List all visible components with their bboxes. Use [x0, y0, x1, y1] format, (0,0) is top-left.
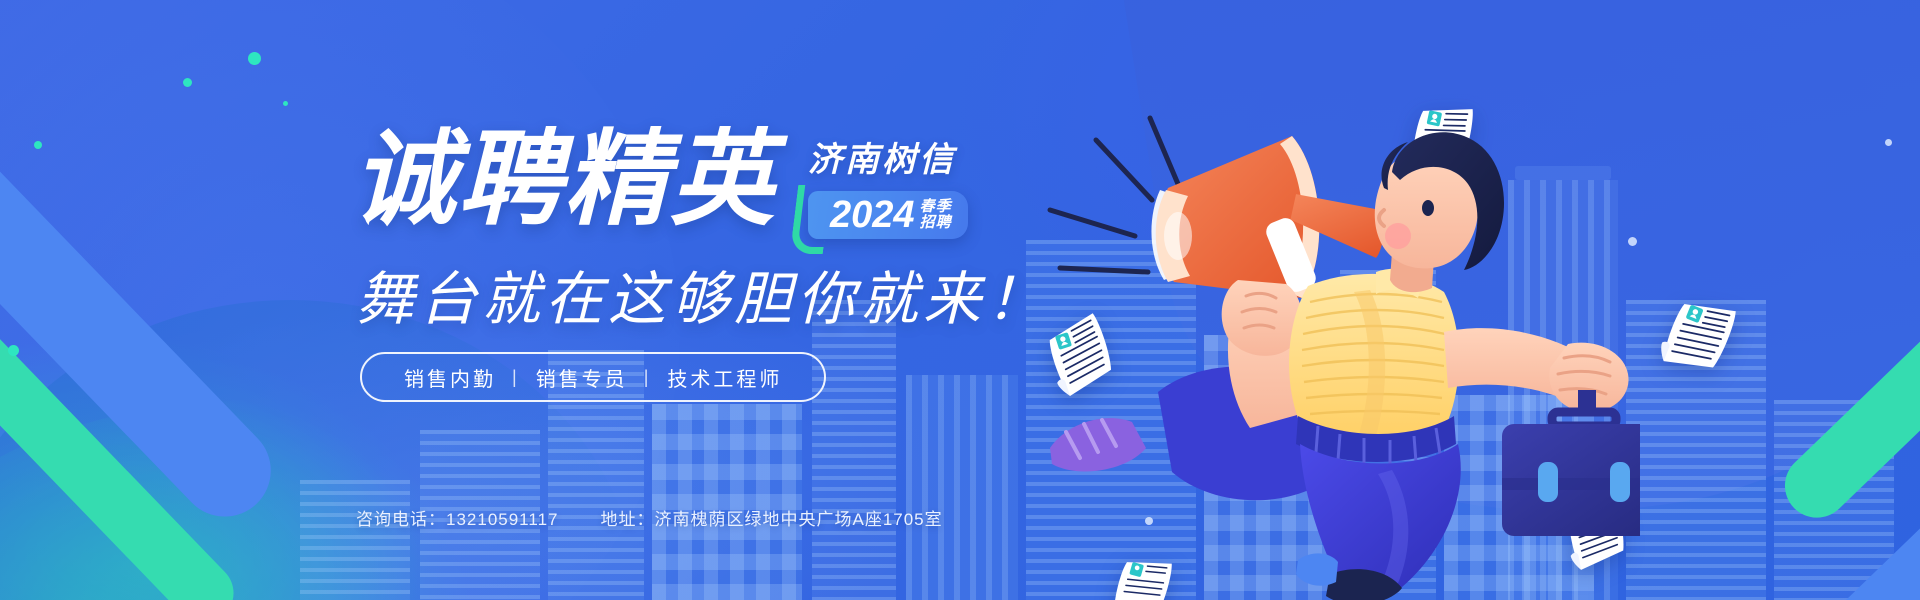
decor-dot-white: [1885, 139, 1892, 146]
contact-address-label: 地址：: [600, 510, 654, 529]
season-badge: 2024 春季 招聘: [808, 191, 968, 239]
job-role-item[interactable]: 销售内勤: [388, 363, 512, 392]
role-separator: |: [512, 367, 520, 388]
recruitment-banner: 诚聘精英 济南树信 2024 春季 招聘 舞台就在这够胆你就来！ 销售内勤 | …: [0, 0, 1920, 600]
brand-name: 济南树信: [808, 132, 968, 181]
text-content: 诚聘精英 济南树信 2024 春季 招聘 舞台就在这够胆你就来！ 销售内勤 | …: [0, 0, 1100, 600]
job-roles-pill[interactable]: 销售内勤 | 销售专员 | 技术工程师: [360, 352, 826, 402]
badge-season-line-2: 招聘: [920, 215, 952, 231]
brand-badge-group: 济南树信 2024 春季 招聘: [808, 128, 968, 239]
resume-paper-icon: [1660, 292, 1744, 380]
briefcase-icon: [1502, 390, 1640, 536]
shirt: [1289, 274, 1459, 447]
contact-phone-label: 咨询电话：: [356, 510, 446, 529]
job-role-item[interactable]: 销售专员: [520, 363, 644, 392]
sock: [1296, 553, 1338, 585]
badge-season-line-1: 春季: [920, 199, 952, 215]
badge-season: 春季 招聘: [920, 199, 952, 231]
headline-row: 诚聘精英 济南树信 2024 春季 招聘: [352, 128, 968, 239]
megaphone-icon: [1151, 136, 1387, 298]
badge-hook-icon: [790, 185, 831, 254]
businessman-illustration: [1040, 40, 1640, 600]
contact-address: 地址：济南槐荫区绿地中央广场A座1705室: [600, 505, 942, 530]
role-separator: |: [644, 367, 652, 388]
page-title: 诚聘精英: [352, 128, 776, 232]
badge-year: 2024: [830, 196, 915, 234]
job-role-item[interactable]: 技术工程师: [651, 363, 798, 392]
contact-phone: 咨询电话：13210591117: [356, 505, 558, 530]
contact-address-value: 济南槐荫区绿地中央广场A座1705室: [654, 510, 942, 529]
head: [1375, 132, 1504, 270]
page-subtitle: 舞台就在这够胆你就来！: [356, 252, 1049, 336]
contact-phone-value[interactable]: 13210591117: [446, 510, 558, 529]
contact-info: 咨询电话：13210591117 地址：济南槐荫区绿地中央广场A座1705室: [356, 505, 943, 530]
